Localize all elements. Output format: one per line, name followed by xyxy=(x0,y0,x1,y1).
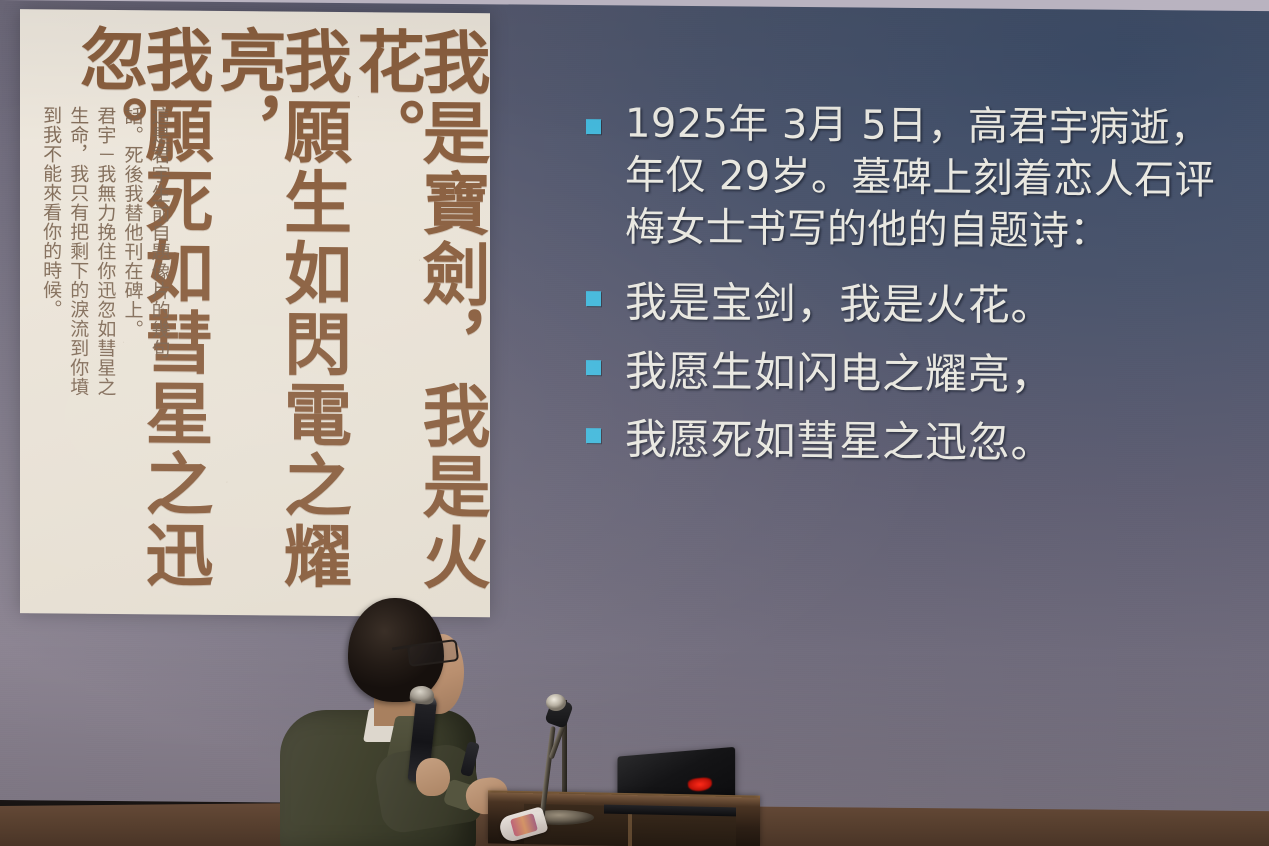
slide-bullet-3-text: 我愿生如闪电之耀亮， xyxy=(625,344,1053,402)
slide-bullet-3: 我愿生如闪电之耀亮， xyxy=(586,344,1246,404)
calligraphy-annotation: 到我不能來看你的時候。 生命，我只有把剩下的淚流到你墳 君宇－我無力挽住你迅忽如… xyxy=(34,105,170,536)
calligraphy-column-2: 我願生如閃電之耀亮， xyxy=(213,25,344,592)
square-bullet-icon xyxy=(586,428,601,443)
slide-bullet-2: 我是宝剑，我是火花。 xyxy=(586,275,1246,335)
square-bullet-icon xyxy=(586,291,601,306)
slide-bullet-1-text: 1925年 3月 5日，高君宇病逝，年仅 29岁。墓碑上刻着恋人石评梅女士书写的… xyxy=(625,97,1225,258)
annotation-column-5: 到我不能來看你的時候。 xyxy=(41,105,61,525)
annotation-column-2: 話。死後我替他刊在碑上。 xyxy=(122,106,142,478)
calligraphy-column-1: 我是寶劍，我是火花。 xyxy=(351,26,482,593)
gooseneck-microphone-windscreen-icon xyxy=(546,694,566,711)
slide-bullet-4: 我愿死如彗星之迅忽。 xyxy=(586,412,1246,472)
square-bullet-icon xyxy=(586,119,601,134)
annotation-column-3: 君宇－我無力挽住你迅忽如彗星之 xyxy=(95,106,115,478)
calligraphy-image: 我願死如彗星之迅忽。 我願生如閃電之耀亮， 我是寶劍，我是火花。 到我不能來看你… xyxy=(20,9,490,617)
projected-slide: 我願死如彗星之迅忽。 我願生如閃電之耀亮， 我是寶劍，我是火花。 到我不能來看你… xyxy=(0,0,1269,811)
square-bullet-icon xyxy=(586,360,601,375)
slide-bullet-1: 1925年 3月 5日，高君宇病逝，年仅 29岁。墓碑上刻着恋人石评梅女士书写的… xyxy=(586,97,1246,259)
annotation-column-1: 這是君宇生前自題像片的幾句 xyxy=(150,106,170,406)
slide-bullet-4-text: 我愿死如彗星之迅忽。 xyxy=(625,413,1053,471)
slide-bullet-2-text: 我是宝剑，我是火花。 xyxy=(625,275,1053,333)
lecture-photo-stage: 我願死如彗星之迅忽。 我願生如閃電之耀亮， 我是寶劍，我是火花。 到我不能來看你… xyxy=(0,0,1269,846)
annotation-column-4: 生命，我只有把剩下的淚流到你墳 xyxy=(68,106,88,526)
slide-text-block: 1925年 3月 5日，高君宇病逝，年仅 29岁。墓碑上刻着恋人石评梅女士书写的… xyxy=(586,97,1246,487)
presenter-hand-left xyxy=(416,758,450,796)
